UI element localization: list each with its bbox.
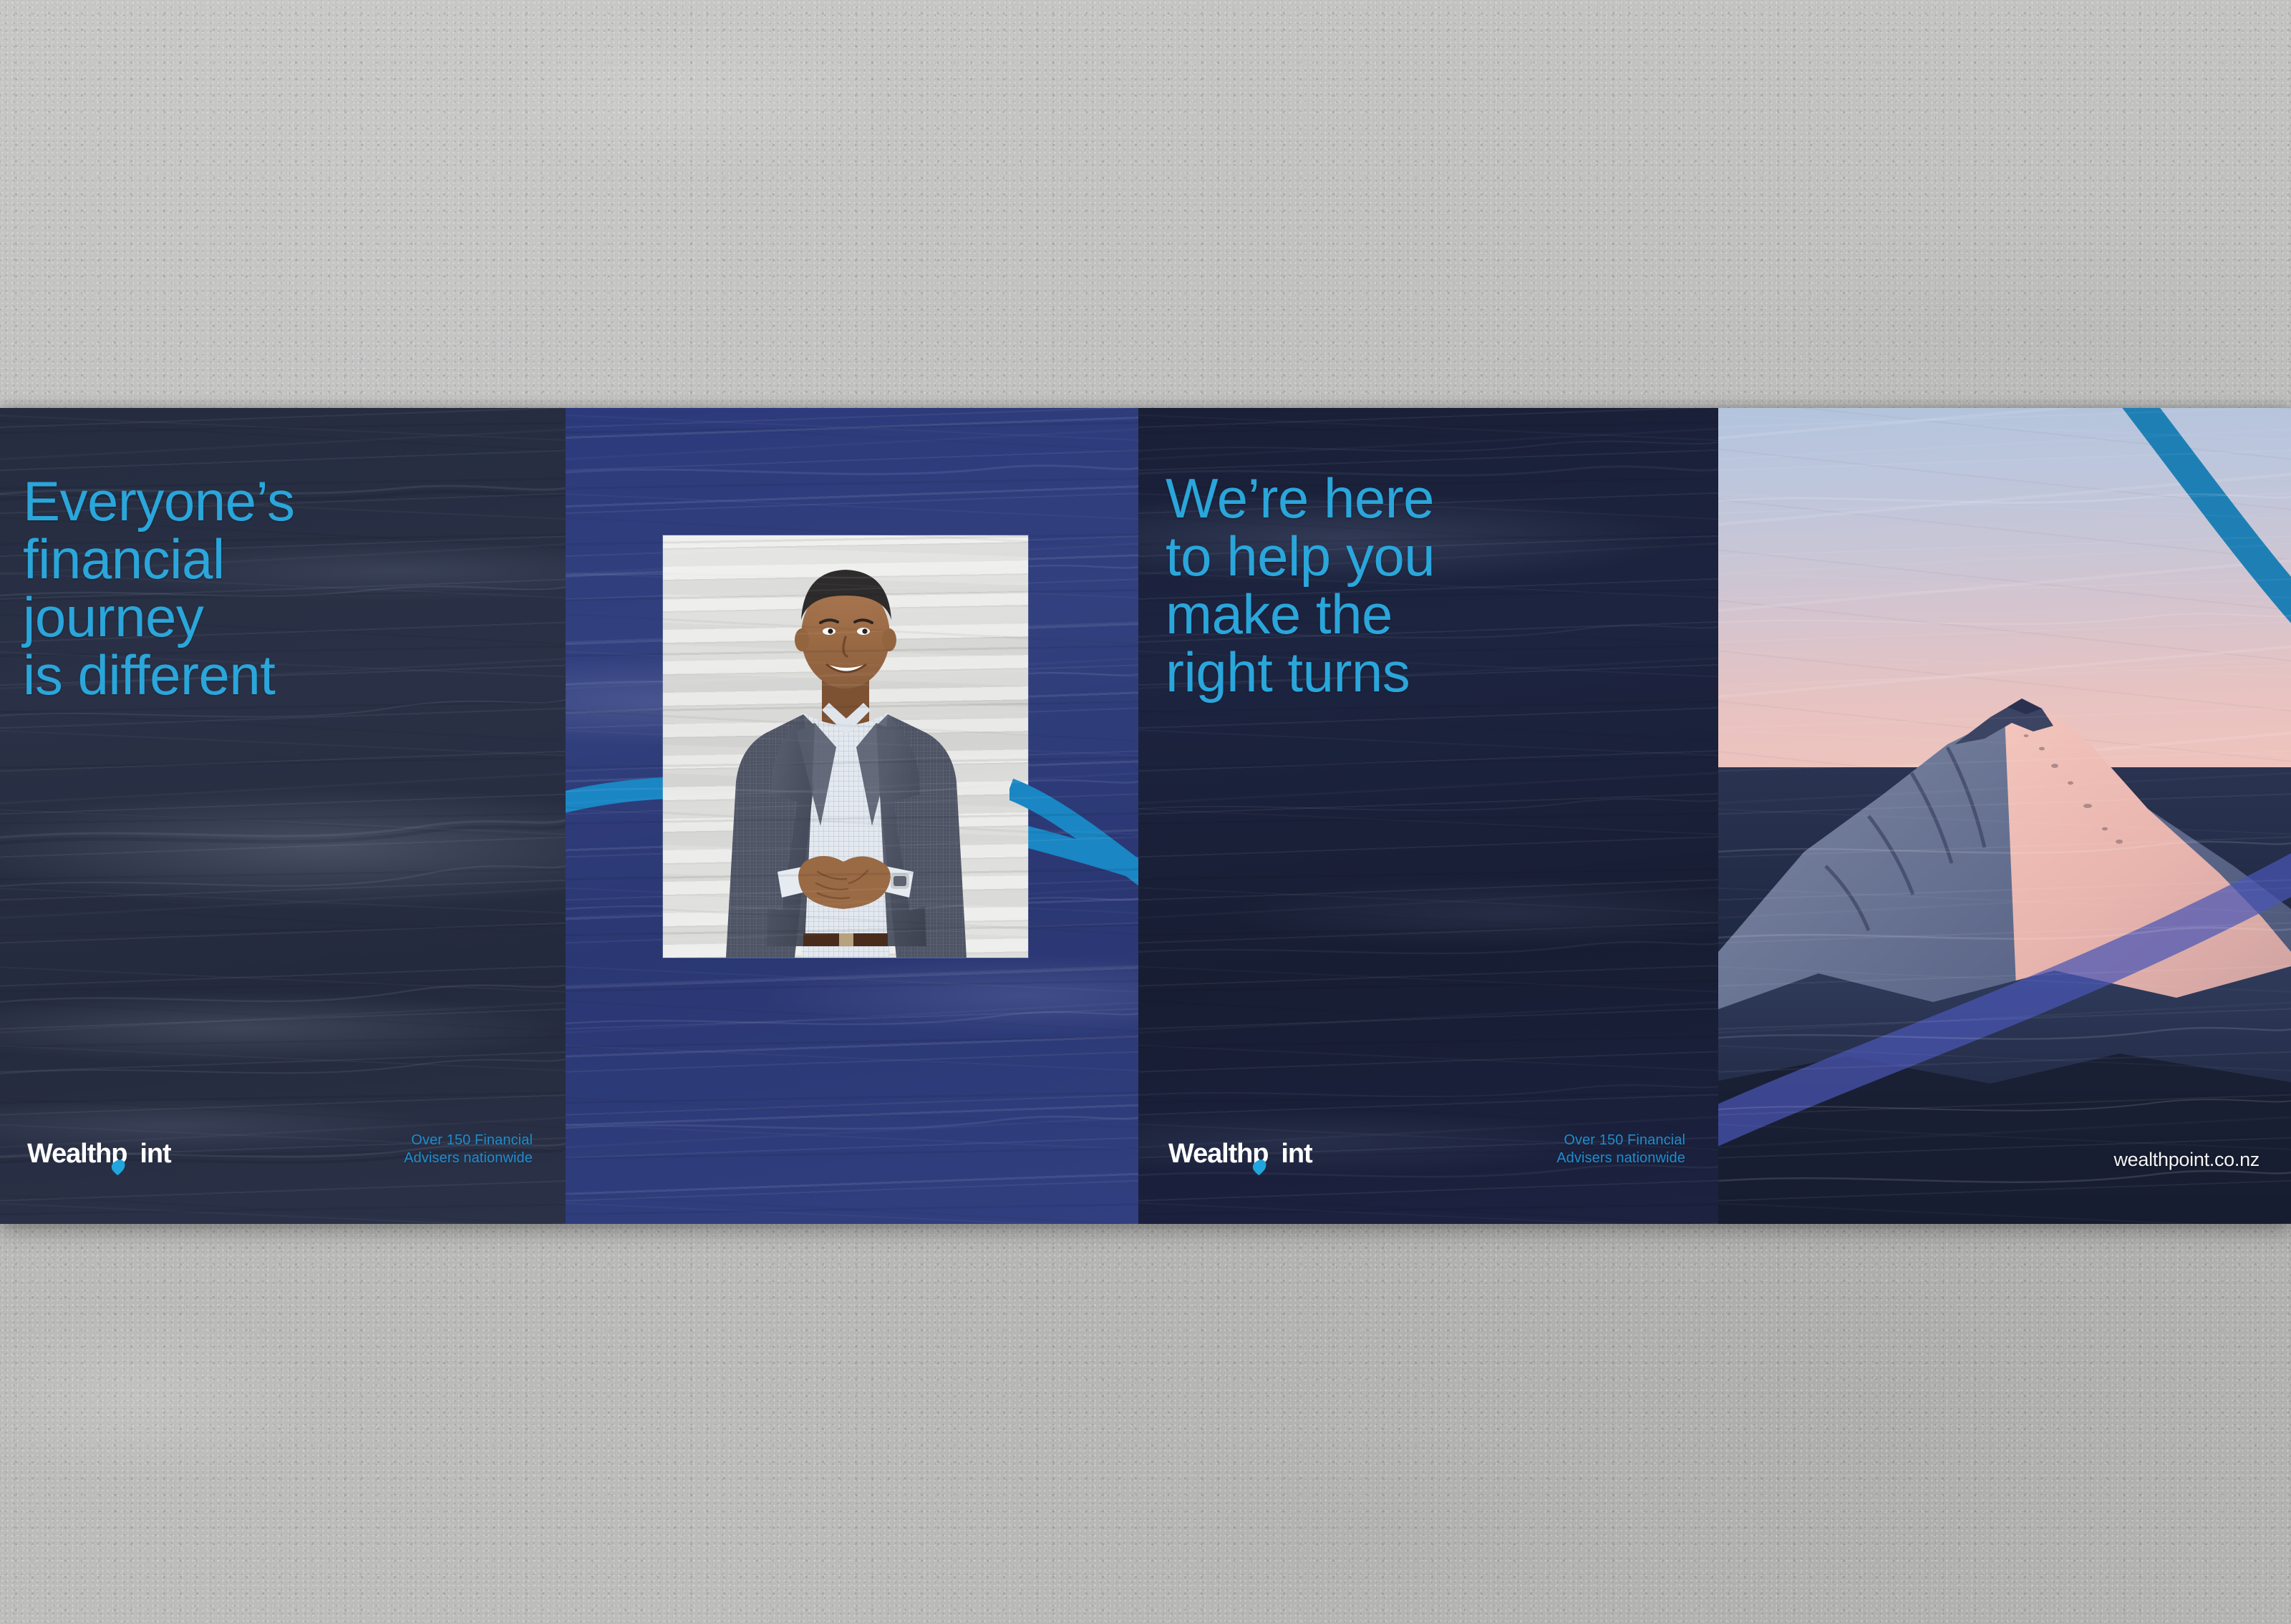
wealthpoint-logo[interactable]: Wealthpint	[27, 1139, 171, 1170]
poster-1-headline: Everyone’s financial journey is differen…	[23, 472, 294, 704]
poster-mountain[interactable]: wealthpoint.co.nz	[1718, 408, 2291, 1224]
poster-campaign-mockup: Everyone’s financial journey is differen…	[0, 0, 2291, 1624]
headline-line: We’re here	[1166, 470, 1435, 527]
logo-word-end: int	[140, 1139, 170, 1170]
website-url[interactable]: wealthpoint.co.nz	[2113, 1149, 2259, 1171]
headline-line: Everyone’s	[23, 472, 294, 530]
wealthpoint-logo[interactable]: Wealthpint	[1168, 1139, 1312, 1170]
poster-headline-journey[interactable]: Everyone’s financial journey is differen…	[0, 408, 566, 1224]
tagline-line: Over 150 Financial	[404, 1132, 533, 1150]
mountain-illustration	[1718, 408, 2291, 1224]
poster-strip: Everyone’s financial journey is differen…	[0, 408, 2291, 1224]
brand-swoosh-front	[1009, 779, 1138, 908]
tagline-line: Over 150 Financial	[1556, 1132, 1685, 1150]
poster-3-headline: We’re here to help you make the right tu…	[1166, 470, 1435, 701]
poster-1-tagline: Over 150 Financial Advisers nationwide	[404, 1132, 533, 1168]
headline-line: make the	[1166, 585, 1435, 643]
tagline-line: Advisers nationwide	[404, 1149, 533, 1168]
logo-word-end: int	[1281, 1139, 1312, 1170]
poster-3-tagline: Over 150 Financial Advisers nationwide	[1556, 1132, 1685, 1168]
poster-portrait-adviser[interactable]	[566, 408, 1138, 1224]
headline-line: to help you	[1166, 527, 1435, 585]
poster-headline-right-turns[interactable]: We’re here to help you make the right tu…	[1138, 408, 1718, 1224]
headline-line: is different	[23, 646, 294, 704]
adviser-photo	[663, 535, 1028, 958]
headline-line: journey	[23, 588, 294, 646]
tagline-line: Advisers nationwide	[1556, 1149, 1685, 1168]
headline-line: financial	[23, 530, 294, 588]
adviser-portrait-illustration	[663, 535, 1028, 958]
headline-line: right turns	[1166, 643, 1435, 701]
